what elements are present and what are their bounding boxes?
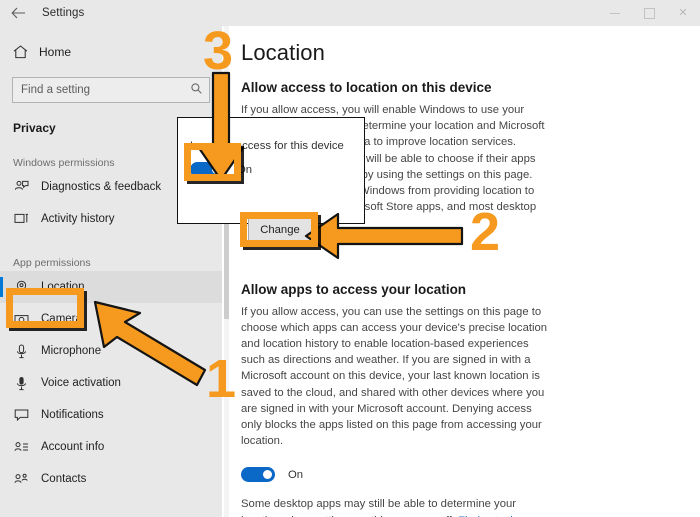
location-settings-page: Location Allow access to location on thi… (222, 26, 700, 517)
device-access-heading: Allow access to location on this device (241, 80, 676, 95)
sidebar-item-label: Account info (41, 441, 104, 453)
settings-window: Settings ✕ Home Pr (0, 0, 700, 517)
maximize-button[interactable] (632, 0, 666, 26)
window-controls: ✕ (598, 0, 700, 26)
voice-activation-icon (13, 375, 29, 391)
desktop-apps-note: Some desktop apps may still be able to d… (241, 496, 549, 517)
close-button[interactable]: ✕ (666, 0, 700, 26)
minimize-icon (610, 13, 620, 14)
highlight-box-change-button (240, 212, 318, 247)
sidebar: Home Privacy Windows permissions Dia (0, 26, 222, 517)
contacts-icon (13, 471, 29, 487)
sidebar-item-label: Activity history (41, 213, 115, 225)
sidebar-item-label: Notifications (41, 409, 104, 421)
sidebar-item-microphone[interactable]: Microphone (0, 335, 222, 367)
notifications-icon (13, 407, 29, 423)
sidebar-item-label: Contacts (41, 473, 86, 485)
title-bar: Settings ✕ (0, 0, 700, 26)
apps-location-toggle-state: On (288, 469, 303, 481)
toggle-knob (263, 470, 272, 479)
feedback-icon (13, 179, 29, 195)
sidebar-item-voice-activation[interactable]: Voice activation (0, 367, 222, 399)
sidebar-item-home-label: Home (39, 45, 71, 59)
account-info-icon (13, 439, 29, 455)
sidebar-group-label-app-permissions: App permissions (0, 257, 222, 269)
microphone-icon (13, 343, 29, 359)
title-bar-left: Settings (0, 0, 84, 26)
search-input[interactable] (13, 78, 209, 102)
sidebar-item-label: Diagnostics & feedback (41, 181, 161, 193)
back-arrow-icon[interactable] (0, 0, 36, 26)
highlight-box-location-nav (6, 288, 84, 328)
apps-location-toggle[interactable] (241, 467, 275, 482)
sidebar-item-notifications[interactable]: Notifications (0, 399, 222, 431)
search-icon (191, 83, 202, 97)
search-box[interactable] (12, 77, 210, 103)
page-title: Location (241, 40, 676, 66)
apps-access-heading: Allow apps to access your location (241, 282, 676, 297)
apps-access-description: If you allow access, you can use the set… (241, 304, 549, 450)
window-title: Settings (42, 7, 84, 19)
sidebar-item-home[interactable]: Home (0, 38, 222, 66)
sidebar-item-contacts[interactable]: Contacts (0, 463, 222, 495)
sidebar-item-label: Voice activation (41, 377, 121, 389)
maximize-icon (644, 8, 655, 19)
apps-location-toggle-row: On (241, 467, 676, 482)
content-pane: Location Allow access to location on thi… (222, 26, 700, 517)
sidebar-item-account-info[interactable]: Account info (0, 431, 222, 463)
highlight-box-device-toggle (184, 143, 241, 181)
sidebar-item-label: Microphone (41, 345, 101, 357)
minimize-button[interactable] (598, 0, 632, 26)
activity-history-icon (13, 211, 29, 227)
home-icon (12, 44, 28, 60)
